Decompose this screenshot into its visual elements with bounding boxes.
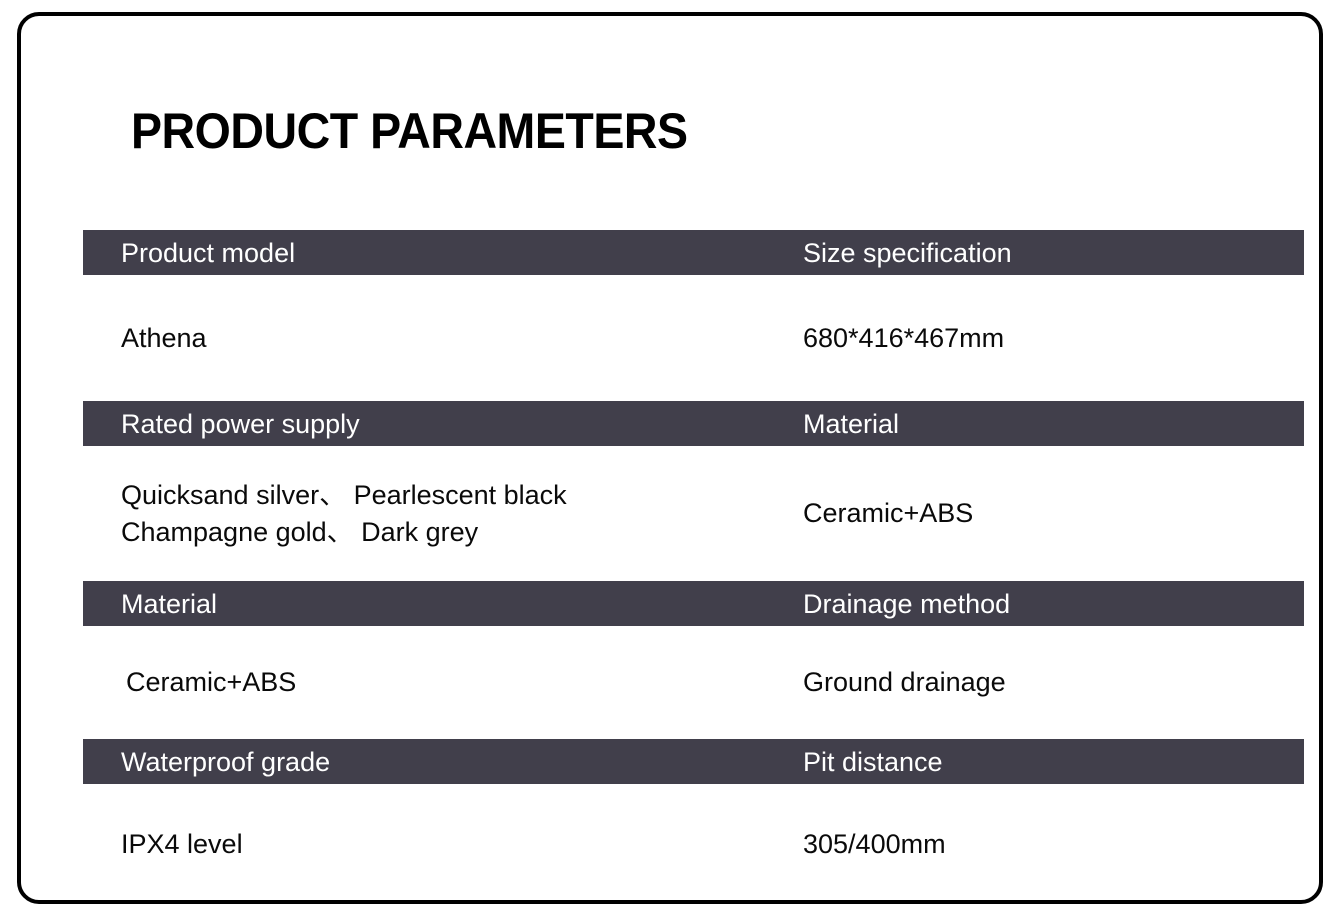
value-cell-waterproof-grade: IPX4 level bbox=[83, 826, 793, 863]
header-cell-waterproof-grade: Waterproof grade bbox=[83, 747, 793, 777]
table-header-row: Waterproof grade Pit distance bbox=[83, 739, 1304, 784]
value-cell-material: Ceramic+ABS bbox=[83, 664, 793, 701]
header-cell-material: Material bbox=[83, 589, 793, 619]
content-frame: PRODUCT PARAMETERS Product model Size sp… bbox=[17, 12, 1323, 904]
header-cell-pit-distance: Pit distance bbox=[793, 747, 1304, 777]
table-header-row: Material Drainage method bbox=[83, 581, 1304, 626]
spec-group-rated-power-supply: Rated power supply Material Quicksand si… bbox=[83, 401, 1304, 581]
table-value-row: Ceramic+ABS Ground drainage bbox=[83, 626, 1304, 739]
table-header-row: Rated power supply Material bbox=[83, 401, 1304, 446]
table-value-row: Quicksand silver、 Pearlescent black Cham… bbox=[83, 446, 1304, 581]
value-cell-size-specification: 680*416*467mm bbox=[793, 320, 1304, 357]
page-title: PRODUCT PARAMETERS bbox=[131, 102, 688, 160]
spec-group-waterproof-grade: Waterproof grade Pit distance IPX4 level… bbox=[83, 739, 1304, 904]
product-parameters-page: PRODUCT PARAMETERS Product model Size sp… bbox=[0, 0, 1340, 920]
header-cell-rated-power-supply: Rated power supply bbox=[83, 409, 793, 439]
value-cell-colors: Quicksand silver、 Pearlescent black Cham… bbox=[83, 477, 793, 551]
value-cell-drainage-method: Ground drainage bbox=[793, 664, 1304, 701]
header-cell-drainage-method: Drainage method bbox=[793, 589, 1304, 619]
value-cell-product-model: Athena bbox=[83, 320, 793, 357]
header-cell-size-specification: Size specification bbox=[793, 238, 1304, 268]
table-value-row: IPX4 level 305/400mm bbox=[83, 784, 1304, 904]
spec-group-material: Material Drainage method Ceramic+ABS Gro… bbox=[83, 581, 1304, 739]
spec-group-product-model: Product model Size specification Athena … bbox=[83, 230, 1304, 401]
table-value-row: Athena 680*416*467mm bbox=[83, 275, 1304, 401]
header-cell-product-model: Product model bbox=[83, 238, 793, 268]
table-header-row: Product model Size specification bbox=[83, 230, 1304, 275]
value-cell-material: Ceramic+ABS bbox=[793, 495, 1304, 532]
specification-table: Product model Size specification Athena … bbox=[83, 230, 1304, 904]
value-cell-pit-distance: 305/400mm bbox=[793, 826, 1304, 863]
header-cell-material: Material bbox=[793, 409, 1304, 439]
